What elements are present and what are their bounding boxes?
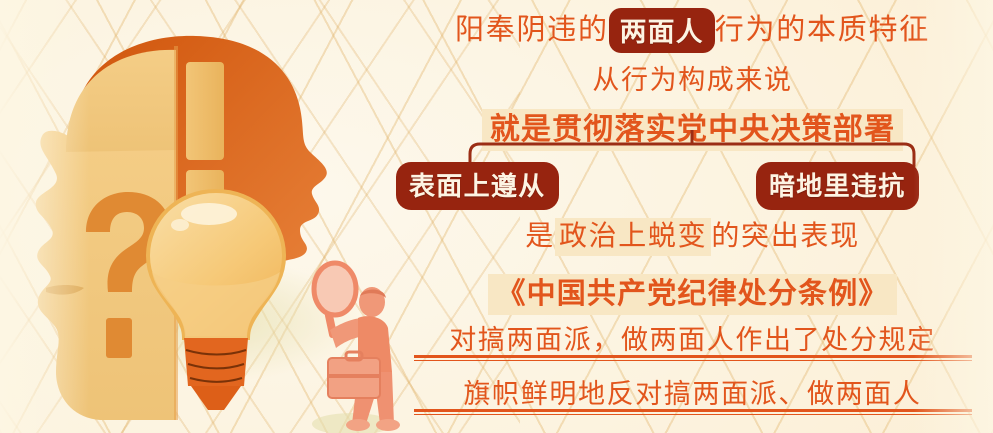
double-underline-2 xyxy=(414,409,972,415)
headline-line-1: 阳奉阴违的两面人行为的本质特征 xyxy=(392,6,993,53)
headline-line-7: 旗帜鲜明地反对搞两面派、做两面人 xyxy=(392,372,993,411)
headline-line-4: 是政治上蜕变的突出表现 xyxy=(392,214,993,254)
badge-secret-defiance: 暗地里违抗 xyxy=(756,162,919,210)
head-front-crown xyxy=(66,50,176,152)
pill-liangmianren: 两面人 xyxy=(609,8,715,53)
briefcase-icon xyxy=(328,352,380,398)
poster-canvas: 阳奉阴违的两面人行为的本质特征 从行为构成来说 就是贯彻落实党中央决策部署 表面… xyxy=(0,0,993,433)
exclamation-mark xyxy=(186,62,224,204)
headline-suffix: 行为的本质特征 xyxy=(715,14,930,46)
line4-suffix: 的突出表现 xyxy=(711,221,859,252)
line4-prefix: 是 xyxy=(525,221,555,252)
headline-prefix: 阳奉阴违的 xyxy=(455,14,609,46)
text-column: 阳奉阴违的两面人行为的本质特征 从行为构成来说 就是贯彻落实党中央决策部署 表面… xyxy=(392,0,993,433)
badge-surface-compliance: 表面上遵从 xyxy=(396,162,559,210)
highlight-political-degeneration: 政治上蜕变 xyxy=(555,218,711,256)
split-head-lightbulb-illustration xyxy=(0,0,420,433)
highlight-regulation-title: 《中国共产党纪律处分条例》 xyxy=(488,274,896,315)
headline-line-2: 从行为构成来说 xyxy=(392,58,993,97)
double-underline-1 xyxy=(414,355,972,361)
headline-line-5: 《中国共产党纪律处分条例》 xyxy=(392,270,993,312)
headline-line-6: 对搞两面派，做两面人作出了处分规定 xyxy=(392,318,993,357)
